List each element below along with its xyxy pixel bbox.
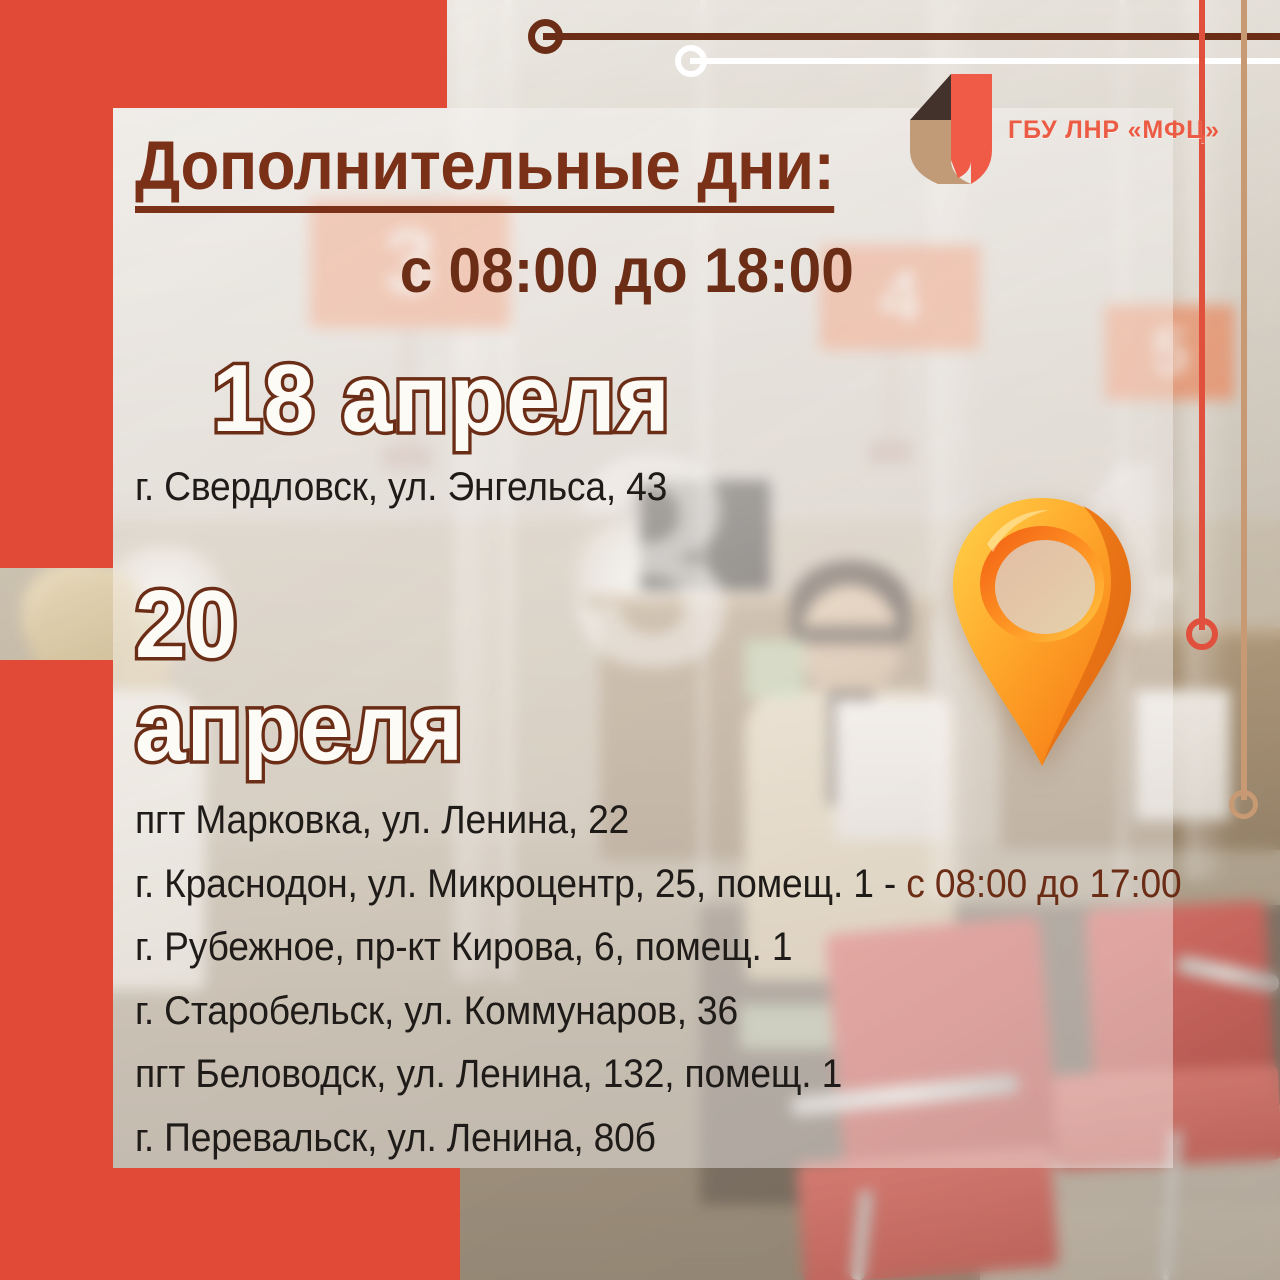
date-heading: 20 апреля: [135, 573, 525, 780]
address-text: г. Старобельск, ул. Коммунаров, 36: [135, 989, 738, 1033]
poster: 3 4 3 4 5: [0, 0, 1280, 1280]
address-text: г. Перевальск, ул. Ленина, 80б: [135, 1116, 656, 1160]
decor-dot-white: [675, 45, 707, 77]
date-block-2: 20 апреля пгт Марковка, ул. Ленина, 22 г…: [135, 573, 415, 783]
decor-line-horizontal-brown: [543, 33, 1280, 40]
address-line: г. Перевальск, ул. Ленина, 80б: [135, 1112, 395, 1166]
address-hours: с 08:00 до 17:00: [906, 862, 1181, 906]
address-line: г. Старобельск, ул. Коммунаров, 36: [135, 985, 395, 1039]
address-text: г. Рубежное, пр-кт Кирова, 6, помещ. 1: [135, 925, 792, 969]
date-block-1: 18 апреля г. Свердловск, ул. Энгельса, 4…: [135, 347, 1280, 514]
address-line: пгт Марковка, ул. Ленина, 22: [135, 794, 395, 848]
mfc-logo: ГБУ ЛНР «МФЦ»: [908, 72, 1220, 188]
decor-line-horizontal-white: [690, 58, 1280, 64]
opening-hours: с 08:00 до 18:00: [154, 235, 1239, 307]
page-title: Дополнительные дни:: [135, 130, 834, 213]
address-line: г. Рубежное, пр-кт Кирова, 6, помещ. 1: [135, 921, 395, 975]
decor-block-bottom-left: [0, 1168, 460, 1280]
map-pin-icon: [945, 492, 1140, 772]
address-line: г. Краснодон, ул. Микроцентр, 25, помещ.…: [135, 858, 395, 912]
address-text: г. Краснодон, ул. Микроцентр, 25, помещ.…: [135, 862, 906, 906]
address-list: пгт Марковка, ул. Ленина, 22 г. Краснодо…: [135, 794, 415, 1166]
mfc-shield-logo-icon: [908, 72, 994, 188]
decor-dot-tan: [1229, 790, 1258, 819]
address-text: пгт Беловодск, ул. Ленина, 132, помещ. 1: [135, 1052, 842, 1096]
date-heading: 18 апреля: [135, 347, 1223, 451]
address-text: пгт Марковка, ул. Ленина, 22: [135, 798, 629, 842]
decor-block-left-upper: [0, 0, 113, 568]
address-line: пгт Беловодск, ул. Ленина, 132, помещ. 1: [135, 1048, 395, 1102]
mfc-logo-text: ГБУ ЛНР «МФЦ»: [1008, 116, 1220, 145]
decor-dot-brown: [528, 19, 563, 54]
